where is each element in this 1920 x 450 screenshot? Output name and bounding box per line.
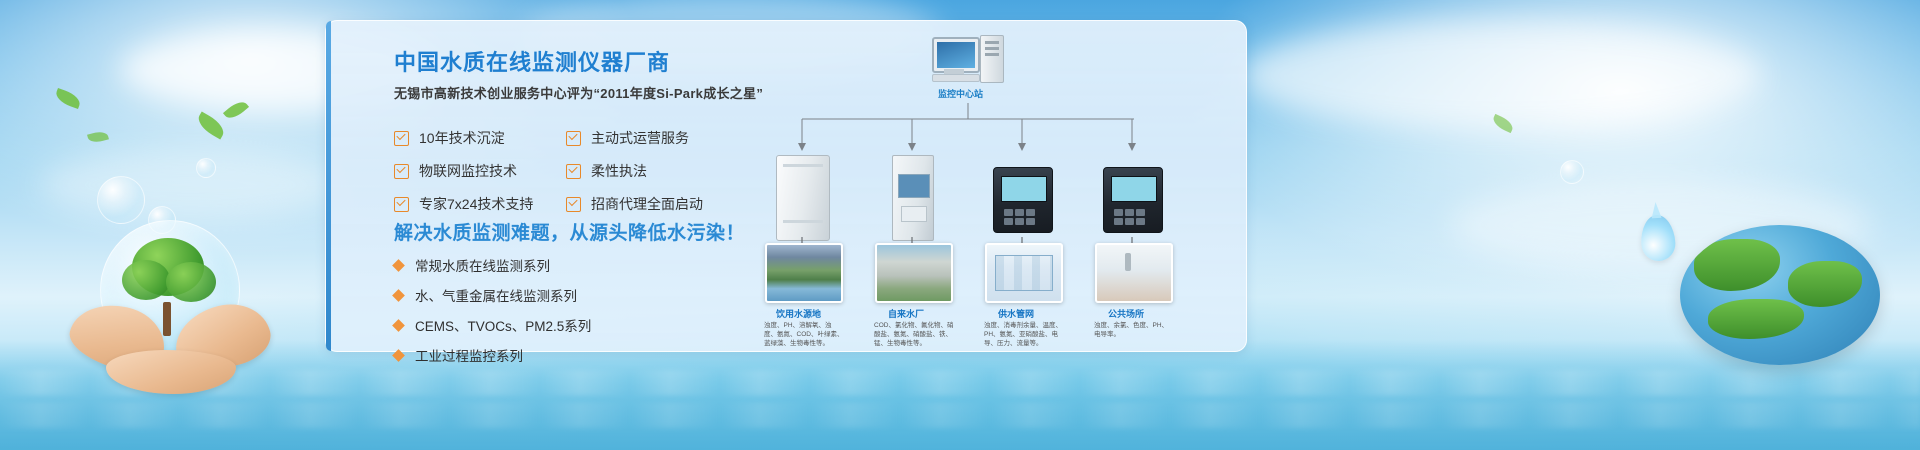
category-label: 饮用水源地 — [776, 307, 821, 320]
checklist-item-label: 10年技术沉淀 — [419, 128, 505, 148]
earth-globe-emblem — [1680, 225, 1880, 375]
checklist-item-label: 主动式运营服务 — [591, 128, 689, 148]
scene-thumbnail-pipe-network — [985, 243, 1063, 303]
checkbox-icon — [394, 131, 409, 146]
checklist-item-label: 物联网监控技术 — [419, 161, 517, 181]
category-description: COD、氯化物、氟化物、硝酸盐、氨氮、硝酸盐、铁、锰、生物毒性等。 — [874, 321, 954, 348]
leaf-decoration — [54, 88, 83, 109]
device-rack-icon — [892, 155, 934, 241]
monitoring-center-node — [932, 35, 1004, 85]
category-label: 公共场所 — [1108, 307, 1144, 320]
land-mass — [1708, 299, 1804, 339]
checklist-item-label: 柔性执法 — [591, 161, 647, 181]
list-item-label: 常规水质在线监测系列 — [415, 255, 550, 275]
cloud-decoration — [1240, 20, 1760, 130]
category-description: 浊度、余氯、色度、PH、电导率。 — [1094, 321, 1174, 339]
checkbox-icon — [566, 131, 581, 146]
page-title: 中国水质在线监测仪器厂商 — [394, 45, 670, 77]
wrists-icon — [106, 350, 236, 394]
scene-thumbnail-waterworks — [875, 243, 953, 303]
list-item: CEMS、TVOCs、PM2.5系列 — [394, 313, 591, 337]
diamond-bullet-icon — [392, 349, 405, 362]
list-item-label: 水、气重金属在线监测系列 — [415, 285, 577, 305]
page-subtitle: 无锡市高新技术创业服务中心评为“2011年度Si-Park成长之星” — [394, 83, 763, 102]
device-controller-icon — [1103, 167, 1163, 233]
list-item: 水、气重金属在线监测系列 — [394, 283, 591, 307]
land-mass — [1694, 239, 1780, 291]
computer-monitor-icon — [932, 37, 980, 73]
checkbox-icon — [566, 164, 581, 179]
checkbox-icon — [394, 164, 409, 179]
device-screen — [1111, 176, 1157, 202]
device-buttons — [1113, 208, 1153, 224]
category-description: 浊度、消毒剂余量、温度、PH、氨氮、亚硝酸盐、电导、压力、流量等。 — [984, 321, 1064, 348]
list-item: 工业过程监控系列 — [394, 343, 591, 367]
leaf-decoration — [87, 130, 109, 145]
bubble-decoration — [196, 158, 216, 178]
scene-thumbnail-public-place — [1095, 243, 1173, 303]
water-quality-banner: 中国水质在线监测仪器厂商 无锡市高新技术创业服务中心评为“2011年度Si-Pa… — [0, 0, 1920, 450]
leaf-decoration — [194, 112, 227, 140]
checklist-item-label: 专家7x24技术支持 — [419, 194, 533, 214]
tree-trunk-icon — [163, 302, 171, 336]
list-item-label: 工业过程监控系列 — [415, 345, 523, 365]
tree-foliage-icon — [166, 262, 216, 302]
keyboard-icon — [932, 74, 980, 82]
computer-tower-icon — [980, 35, 1004, 83]
hands-tree-emblem — [62, 210, 292, 390]
hub-label: 监控中心站 — [938, 87, 983, 100]
category-description: 浊度、PH、溶解氧、浊度、氨氮、COD、叶绿素、蓝绿藻、生物毒性等。 — [764, 321, 844, 348]
checkbox-icon — [394, 197, 409, 212]
device-screen — [1001, 176, 1047, 202]
scene-thumbnail-drinking-water-source — [765, 243, 843, 303]
device-cabinet-icon — [776, 155, 830, 241]
list-item-label: CEMS、TVOCs、PM2.5系列 — [415, 315, 591, 335]
diamond-bullet-icon — [392, 289, 405, 302]
diamond-bullet-icon — [392, 319, 405, 332]
globe-icon — [1680, 225, 1880, 365]
monitoring-system-diagram: 监控中心站 — [760, 25, 1180, 365]
device-buttons — [1003, 208, 1043, 224]
category-label: 自来水厂 — [888, 307, 924, 320]
tree-foliage-icon — [122, 260, 170, 300]
land-mass — [1788, 261, 1862, 307]
device-controller-icon — [993, 167, 1053, 233]
slogan-heading: 解决水质监测难题，从源头降低水污染！ — [394, 218, 745, 245]
checklist-item-label: 招商代理全面启动 — [591, 194, 703, 214]
product-series-list: 常规水质在线监测系列 水、气重金属在线监测系列 CEMS、TVOCs、PM2.5… — [394, 253, 591, 373]
bubble-decoration — [1560, 160, 1584, 184]
category-label: 供水管网 — [998, 307, 1034, 320]
list-item: 常规水质在线监测系列 — [394, 253, 591, 277]
checkbox-icon — [566, 197, 581, 212]
wave-decoration — [0, 402, 1920, 428]
diamond-bullet-icon — [392, 259, 405, 272]
